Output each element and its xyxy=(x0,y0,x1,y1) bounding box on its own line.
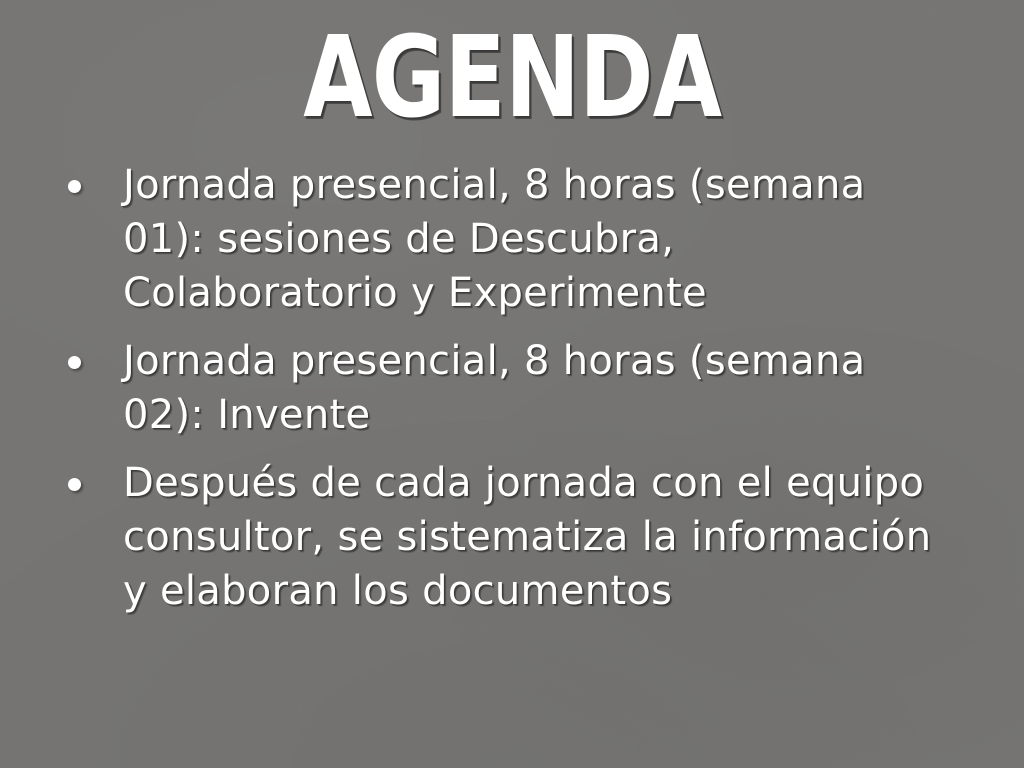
list-item: Después de cada jornada con el equipo co… xyxy=(56,456,956,618)
presentation-slide: AGENDA Jornada presencial, 8 horas (sema… xyxy=(0,0,1024,768)
list-item-text: Después de cada jornada con el equipo co… xyxy=(123,456,956,618)
bullet-point-icon xyxy=(56,158,123,212)
slide-title-container: AGENDA xyxy=(0,22,1024,134)
list-item-text: Jornada presencial, 8 horas (semana 01):… xyxy=(123,158,956,320)
list-item: Jornada presencial, 8 horas (semana 02):… xyxy=(56,334,956,442)
list-item: Jornada presencial, 8 horas (semana 01):… xyxy=(56,158,956,320)
bullet-point-icon xyxy=(56,456,123,510)
bullet-point-icon xyxy=(56,334,123,388)
list-item-text: Jornada presencial, 8 horas (semana 02):… xyxy=(123,334,956,442)
page-title: AGENDA xyxy=(303,22,721,134)
bullet-list: Jornada presencial, 8 horas (semana 01):… xyxy=(56,158,956,618)
